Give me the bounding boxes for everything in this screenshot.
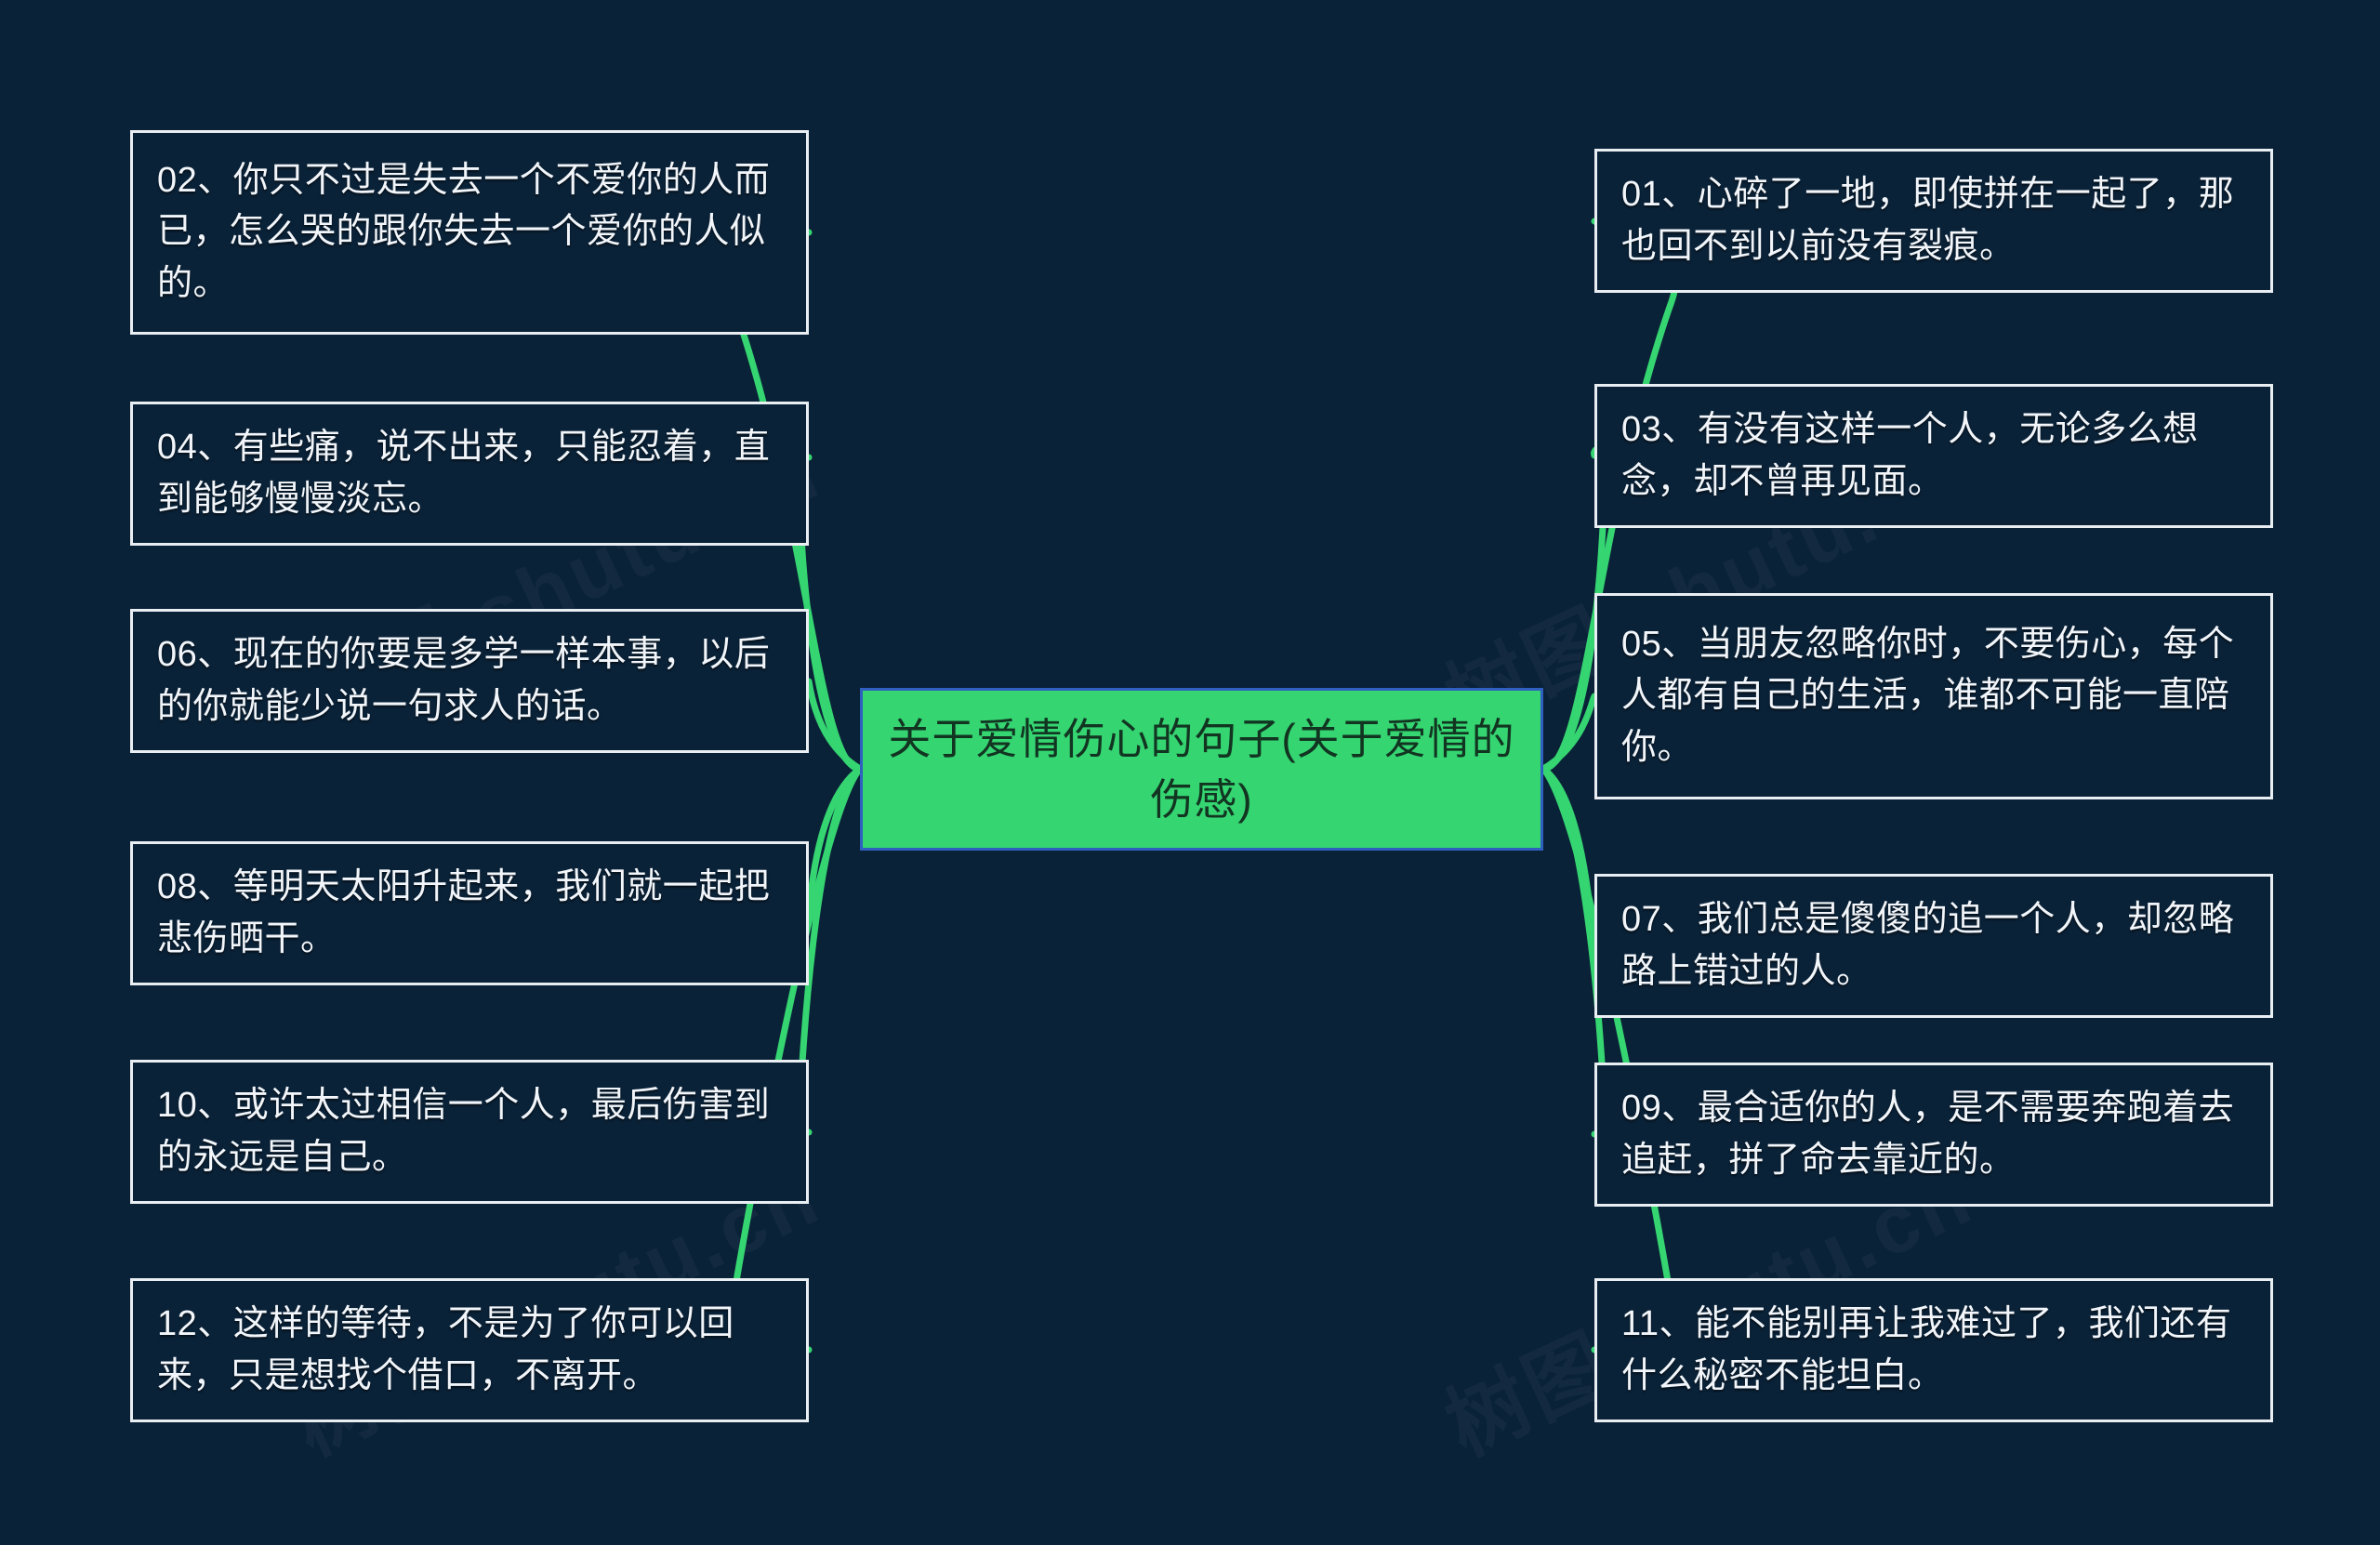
branch-node-07[interactable]: 07、我们总是傻傻的追一个人，却忽略路上错过的人。 bbox=[1594, 874, 2273, 1018]
branch-node-06[interactable]: 06、现在的你要是多学一样本事，以后的你就能少说一句求人的话。 bbox=[130, 609, 809, 753]
branch-node-06-label: 06、现在的你要是多学一样本事，以后的你就能少说一句求人的话。 bbox=[157, 629, 786, 732]
link-11 bbox=[1543, 769, 1671, 1350]
branch-node-09-label: 09、最合适你的人，是不需要奔跑着去追赶，拼了命去靠近的。 bbox=[1621, 1083, 2250, 1185]
branch-node-05[interactable]: 05、当朋友忽略你时，不要伤心，每个人都有自己的生活，谁都不可能一直陪你。 bbox=[1594, 593, 2273, 799]
link-07 bbox=[1543, 769, 1594, 946]
branch-node-04-label: 04、有些痛，说不出来，只能忍着，直到能够慢慢淡忘。 bbox=[157, 422, 786, 524]
branch-node-02-label: 02、你只不过是失去一个不爱你的人而已，怎么哭的跟你失去一个爱你的人似的。 bbox=[157, 155, 786, 309]
branch-node-03-label: 03、有没有这样一个人，无论多么想念，却不曾再见面。 bbox=[1621, 404, 2250, 507]
branch-node-01-label: 01、心碎了一地，即使拼在一起了，那也回不到以前没有裂痕。 bbox=[1621, 169, 2250, 271]
branch-node-10-label: 10、或许太过相信一个人，最后伤害到的永远是自己。 bbox=[157, 1080, 786, 1182]
branch-node-07-label: 07、我们总是傻傻的追一个人，却忽略路上错过的人。 bbox=[1621, 894, 2250, 997]
branch-node-11-label: 11、能不能别再让我难过了，我们还有什么秘密不能坦白。 bbox=[1621, 1299, 2250, 1401]
central-topic-label: 关于爱情伤心的句子(关于爱情的伤感) bbox=[887, 709, 1516, 829]
branch-node-10[interactable]: 10、或许太过相信一个人，最后伤害到的永远是自己。 bbox=[130, 1060, 809, 1204]
branch-node-03[interactable]: 03、有没有这样一个人，无论多么想念，却不曾再见面。 bbox=[1594, 384, 2273, 528]
branch-node-04[interactable]: 04、有些痛，说不出来，只能忍着，直到能够慢慢淡忘。 bbox=[130, 402, 809, 546]
branch-node-12[interactable]: 12、这样的等待，不是为了你可以回来，只是想找个借口，不离开。 bbox=[130, 1278, 809, 1422]
link-05 bbox=[1543, 696, 1594, 769]
branch-node-01[interactable]: 01、心碎了一地，即使拼在一起了，那也回不到以前没有裂痕。 bbox=[1594, 149, 2273, 293]
link-06 bbox=[809, 681, 860, 769]
branch-node-08[interactable]: 08、等明天太阳升起来，我们就一起把悲伤晒干。 bbox=[130, 841, 809, 985]
branch-node-09[interactable]: 09、最合适你的人，是不需要奔跑着去追赶，拼了命去靠近的。 bbox=[1594, 1063, 2273, 1207]
link-08 bbox=[809, 769, 860, 914]
mindmap-canvas: 树图 shutu.cn 树图 shutu.cn 树图 shutu.cn 树图 s… bbox=[0, 0, 2380, 1545]
branch-node-08-label: 08、等明天太阳升起来，我们就一起把悲伤晒干。 bbox=[157, 862, 786, 964]
branch-node-11[interactable]: 11、能不能别再让我难过了，我们还有什么秘密不能坦白。 bbox=[1594, 1278, 2273, 1422]
central-topic-node[interactable]: 关于爱情伤心的句子(关于爱情的伤感) bbox=[860, 688, 1543, 851]
branch-node-12-label: 12、这样的等待，不是为了你可以回来，只是想找个借口，不离开。 bbox=[157, 1299, 786, 1401]
branch-node-05-label: 05、当朋友忽略你时，不要伤心，每个人都有自己的生活，谁都不可能一直陪你。 bbox=[1621, 619, 2250, 772]
branch-node-02[interactable]: 02、你只不过是失去一个不爱你的人而已，怎么哭的跟你失去一个爱你的人似的。 bbox=[130, 130, 809, 335]
